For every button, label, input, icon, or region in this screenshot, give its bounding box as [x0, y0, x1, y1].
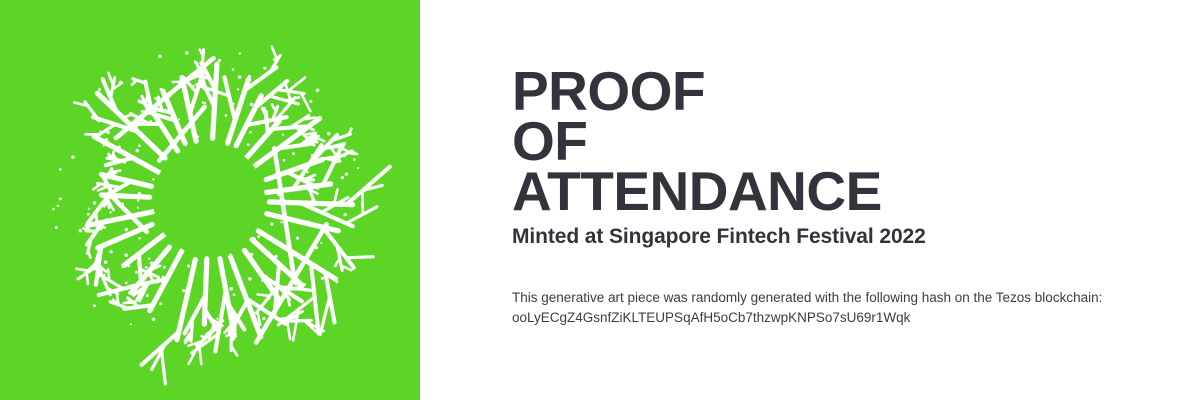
- headline-line-of: OF: [512, 116, 882, 166]
- headline-block: PROOF OF ATTENDANCE: [512, 66, 882, 216]
- blockchain-hash-value: ooLyECgZ4GsnfZiKLTEUPSqAfH5oCb7thzwpKNPS…: [512, 308, 1172, 328]
- text-panel: PROOF OF ATTENDANCE Minted at Singapore …: [420, 0, 1200, 400]
- hash-description-text: This generative art piece was randomly g…: [512, 288, 1172, 308]
- proof-of-attendance-card: PROOF OF ATTENDANCE Minted at Singapore …: [0, 0, 1200, 400]
- art-center-circle: [153, 144, 265, 256]
- headline-line-proof: PROOF: [512, 66, 882, 116]
- headline-line-attendance: ATTENDANCE: [512, 166, 882, 216]
- generative-art-canvas: [0, 0, 420, 400]
- generative-art-panel: [0, 0, 420, 400]
- hash-description-block: This generative art piece was randomly g…: [512, 288, 1172, 328]
- event-subtitle: Minted at Singapore Fintech Festival 202…: [512, 224, 926, 250]
